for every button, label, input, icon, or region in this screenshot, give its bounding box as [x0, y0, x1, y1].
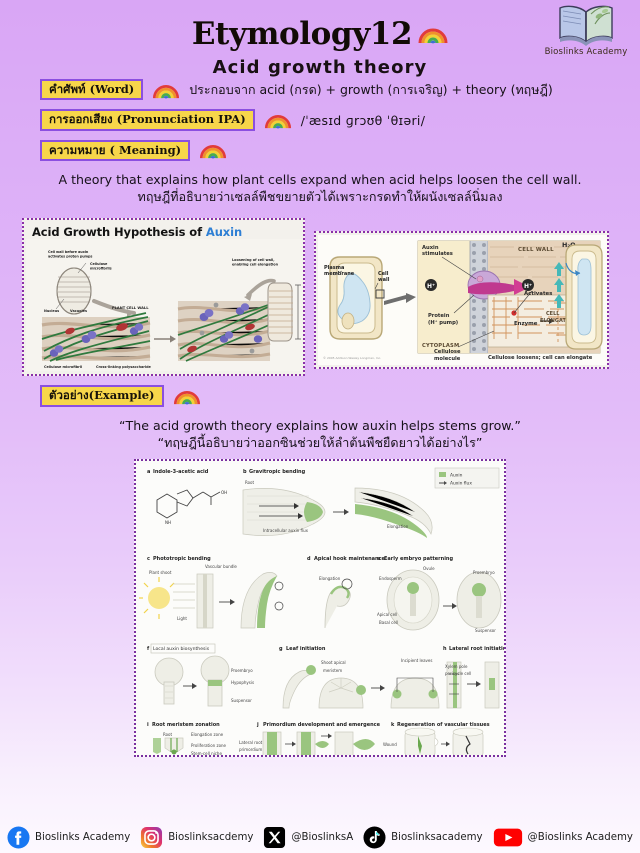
svg-text:wall: wall: [378, 277, 390, 283]
figure-a-title-prefix: Acid Growth Hypothesis of: [32, 225, 206, 239]
example-thai: “ทฤษฎีนี้อธิบายว่าออกซินช่วยให้ลำต้นพืชย…: [30, 434, 610, 452]
facebook-icon[interactable]: [7, 826, 30, 849]
svg-text:Stem-cell niche: Stem-cell niche: [191, 751, 222, 756]
page-title: Etymology12: [192, 16, 412, 52]
svg-text:Intracellular auxin flux: Intracellular auxin flux: [263, 528, 309, 533]
rainbow-icon: [418, 24, 448, 44]
svg-text:primordium: primordium: [239, 747, 262, 752]
svg-text:activates proton pumps: activates proton pumps: [48, 255, 92, 259]
open-book-icon: [555, 2, 617, 46]
figure-acid-growth-hypothesis: Acid Growth Hypothesis of Auxin: [22, 218, 305, 376]
brand-logo-block: Bioslinks Academy: [538, 2, 634, 57]
pronunciation-value: /ˈæsɪd ɡrɔʊθ ˈθɪəri/: [301, 113, 426, 128]
figure-c-wrap: Auxin Auxin flux a Indole-3-acetic acid …: [0, 459, 640, 757]
figures-row: Acid Growth Hypothesis of Auxin: [0, 218, 640, 376]
svg-text:Xylem pole: Xylem pole: [445, 664, 468, 669]
badge-example: ตัวอย่าง(Example): [40, 385, 164, 406]
svg-text:j: j: [256, 722, 259, 728]
tiktok-icon[interactable]: [363, 826, 386, 849]
svg-text:Suspensor: Suspensor: [475, 628, 496, 633]
row-example: ตัวอย่าง(Example): [0, 385, 640, 406]
label-cell-elongation: CELL: [546, 311, 560, 317]
badge-pronunciation: การออกเสียง (Pronunciation IPA): [40, 109, 255, 130]
example-quote-block: “The acid growth theory explains how aux…: [0, 417, 640, 452]
social-x-twitter[interactable]: @BioslinksA: [263, 826, 353, 849]
panel-i-label: Root meristem zonation: [152, 722, 220, 728]
svg-text:H⁺: H⁺: [427, 283, 435, 290]
legend-auxin: Auxin: [450, 473, 463, 479]
label-enzyme: Enzyme: [514, 321, 538, 327]
svg-text:Cellulose: Cellulose: [90, 262, 108, 266]
svg-text:Suspensor: Suspensor: [231, 698, 252, 703]
figure-c-legend: Auxin Auxin flux: [435, 468, 499, 488]
svg-text:PLANT CELL WALL: PLANT CELL WALL: [112, 306, 149, 310]
svg-text:Cellulose microfibril: Cellulose microfibril: [44, 365, 82, 369]
svg-text:a: a: [147, 469, 150, 475]
svg-text:Apical cell: Apical cell: [377, 612, 397, 617]
label-cellulose-molecule: Cellulose: [434, 349, 461, 355]
svg-text:stimulates: stimulates: [422, 251, 453, 257]
figure-a-artwork: Cell wall before auxin activates proton …: [26, 239, 303, 371]
svg-text:Proliferation zone: Proliferation zone: [191, 743, 227, 748]
svg-text:(H⁺ pump): (H⁺ pump): [428, 320, 458, 326]
brand-name: Bioslinks Academy: [538, 47, 634, 57]
page-subtitle: Acid growth theory: [0, 57, 640, 78]
svg-text:microfibrils: microfibrils: [90, 267, 112, 271]
panel-k-label: Regeneration of vascular tissues: [397, 722, 490, 728]
svg-text:Ovule: Ovule: [423, 566, 435, 571]
svg-text:enabling cell elongation: enabling cell elongation: [232, 263, 279, 267]
figure-c-artwork: Auxin Auxin flux a Indole-3-acetic acid …: [139, 464, 505, 756]
youtube-handle: @Bioslinks Academy: [528, 832, 633, 843]
badge-word: คำศัพท์ (Word): [40, 79, 143, 100]
panel-b-label: Gravitropic bending: [249, 469, 306, 475]
panel-g-label: Leaf initiation: [286, 646, 326, 652]
figure-proton-pump-mechanism: Plasma membrane Cell wall © 2005 Addison…: [314, 231, 609, 369]
panel-d-label: Apical hook maintenance: [314, 556, 386, 562]
svg-text:Elongation zone: Elongation zone: [191, 732, 224, 737]
rainbow-icon: [152, 81, 180, 99]
rainbow-icon: [199, 141, 227, 159]
panel-j-label: Primordium development and emergence: [263, 722, 381, 728]
svg-text:membrane: membrane: [324, 271, 355, 277]
badge-meaning: ความหมาย ( Meaning): [40, 140, 190, 161]
svg-text:d: d: [307, 556, 311, 562]
svg-text:Cross-linking polysaccharide: Cross-linking polysaccharide: [96, 365, 152, 369]
svg-text:Light: Light: [177, 616, 187, 621]
tiktok-handle: Bioslinksacademy: [391, 832, 482, 843]
label-cell-wall: CELL WALL: [518, 247, 554, 253]
svg-text:Wound: Wound: [383, 742, 397, 747]
svg-text:c: c: [147, 556, 150, 562]
svg-text:pericycle cell: pericycle cell: [445, 671, 471, 676]
meaning-thai: ทฤษฎีที่อธิบายว่าเซลล์พืชขยายตัวได้เพราะ…: [24, 188, 616, 206]
svg-text:Root: Root: [245, 480, 254, 485]
svg-text:b: b: [243, 469, 247, 475]
svg-text:Endosperm: Endosperm: [379, 576, 402, 581]
row-word: คำศัพท์ (Word) ประกอบจาก acid (กรด) + gr…: [0, 79, 640, 100]
panel-c-label: Phototropic bending: [153, 556, 211, 562]
svg-text:Elongation: Elongation: [387, 524, 409, 529]
meaning-english: A theory that explains how plant cells e…: [24, 171, 616, 188]
figure-auxin-functions-panels: Auxin Auxin flux a Indole-3-acetic acid …: [134, 459, 506, 757]
instagram-handle: Bioslinksacdemy: [168, 832, 253, 843]
svg-text:e: e: [377, 556, 381, 562]
svg-text:Proembryo: Proembryo: [231, 668, 253, 673]
svg-text:Incipient leaves: Incipient leaves: [401, 658, 432, 663]
page-header: Bioslinks Academy Etymology12 Acid growt…: [0, 0, 640, 70]
svg-text:OH: OH: [221, 490, 227, 495]
social-tiktok[interactable]: Bioslinksacademy: [363, 826, 482, 849]
svg-text:Vascular bundle: Vascular bundle: [205, 564, 237, 569]
panel-a-label: Indole-3-acetic acid: [153, 469, 209, 475]
social-footer: Bioslinks Academy Bioslinksacdemy @Biosl…: [0, 826, 640, 849]
youtube-icon[interactable]: [493, 826, 523, 849]
example-english: “The acid growth theory explains how aux…: [30, 417, 610, 434]
label-cellulose-caption: Cellulose loosens; cell can elongate: [488, 355, 593, 361]
word-value: ประกอบจาก acid (กรด) + growth (การเจริญ)…: [189, 80, 553, 100]
facebook-handle: Bioslinks Academy: [35, 832, 130, 843]
svg-text:Root: Root: [163, 732, 172, 737]
figure-a-title-accent: Auxin: [206, 225, 242, 239]
svg-text:© 2005 Addison Wesley Longman,: © 2005 Addison Wesley Longman, Inc.: [323, 356, 381, 360]
svg-text:i: i: [147, 722, 149, 728]
svg-text:Plant shoot: Plant shoot: [149, 570, 172, 575]
meaning-block: A theory that explains how plant cells e…: [0, 171, 640, 206]
svg-text:Shoot apical: Shoot apical: [321, 660, 346, 665]
instagram-icon[interactable]: [140, 826, 163, 849]
label-cell-wall-before: Cell wall before auxin: [48, 250, 89, 254]
svg-text:g: g: [279, 646, 283, 652]
svg-text:Proembryo: Proembryo: [473, 570, 495, 575]
panel-h-label: Lateral root initiation: [449, 646, 505, 652]
figure-a-title: Acid Growth Hypothesis of Auxin: [26, 222, 301, 239]
x-twitter-icon[interactable]: [263, 826, 286, 849]
svg-text:Lateral root: Lateral root: [239, 740, 263, 745]
svg-text:Vacuoles: Vacuoles: [70, 309, 87, 313]
svg-text:Loosening of cell wall,: Loosening of cell wall,: [232, 258, 275, 262]
legend-auxin-flux: Auxin flux: [450, 481, 472, 487]
svg-text:Elongation: Elongation: [319, 576, 341, 581]
svg-text:Nucleus: Nucleus: [44, 309, 59, 313]
svg-text:Hypophysis: Hypophysis: [231, 680, 254, 685]
svg-text:molecule: molecule: [434, 356, 461, 362]
social-instagram[interactable]: Bioslinksacdemy: [140, 826, 253, 849]
rainbow-icon: [173, 387, 201, 405]
label-protein-pump: Protein: [428, 313, 450, 319]
row-meaning: ความหมาย ( Meaning): [0, 140, 640, 161]
panel-f-label: Local auxin biosynthesis: [153, 646, 210, 652]
svg-text:Basal cell: Basal cell: [379, 620, 398, 625]
row-pronunciation: การออกเสียง (Pronunciation IPA) /ˈæsɪd ɡ…: [0, 109, 640, 130]
social-facebook[interactable]: Bioslinks Academy: [7, 826, 130, 849]
social-youtube[interactable]: @Bioslinks Academy: [493, 826, 633, 849]
svg-text:NH: NH: [165, 520, 171, 525]
figure-b-artwork: Plasma membrane Cell wall © 2005 Addison…: [318, 235, 607, 365]
rainbow-icon: [264, 111, 292, 129]
label-activates: Activates: [524, 291, 552, 297]
x-handle: @BioslinksA: [291, 832, 353, 843]
svg-text:H⁺: H⁺: [524, 283, 532, 290]
panel-e-label: Early embryo patterning: [384, 556, 453, 562]
svg-text:meristem: meristem: [323, 668, 342, 673]
svg-text:h: h: [443, 646, 447, 652]
